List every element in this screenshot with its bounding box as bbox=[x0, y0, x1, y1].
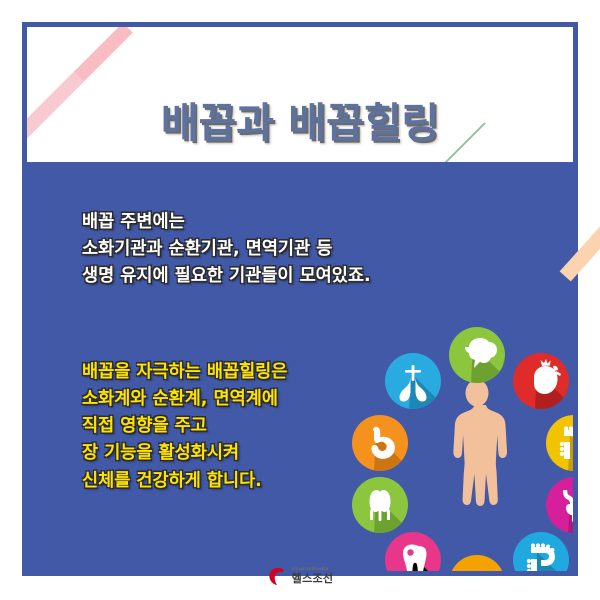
paragraph-one-line-3: 생명 유지에 필요한 기관들이 모여있죠. bbox=[82, 263, 371, 290]
organ-lungs-icon bbox=[385, 353, 441, 409]
paragraph-two-line-4: 장 기능을 활성화시켜 bbox=[82, 440, 287, 467]
chosun-c-logo-icon bbox=[267, 566, 287, 586]
organ-stomach-icon bbox=[352, 415, 408, 471]
paragraph-two-line-3: 직접 영향을 주고 bbox=[82, 413, 287, 440]
logo-title: 헬스조선 bbox=[292, 573, 334, 584]
paragraph-two-line-1: 배꼽을 자극하는 배꼽힐링은 bbox=[82, 359, 287, 386]
paragraph-two-line-2: 소화계와 순환계, 면역계에 bbox=[82, 386, 287, 413]
footer-logo: ChosunMedia 헬스조선 bbox=[0, 558, 600, 594]
organ-heart-icon bbox=[513, 353, 569, 409]
organ-kidneys-icon bbox=[352, 477, 408, 533]
paragraph-one: 배꼽 주변에는 소화기관과 순환기관, 면역기관 등 생명 유지에 필요한 기관… bbox=[82, 209, 371, 290]
organ-brain-icon bbox=[449, 327, 505, 383]
logo-text-group: ChosunMedia 헬스조선 bbox=[292, 568, 334, 585]
human-body-silhouette-icon bbox=[435, 379, 519, 561]
paragraph-one-line-1: 배꼽 주변에는 bbox=[82, 209, 371, 236]
content-frame: 배꼽과 배꼽힐링 배꼽 주변에는 소화기관과 순환기관, 면역기관 등 생명 유… bbox=[22, 22, 578, 576]
infographic-card: 배꼽과 배꼽힐링 배꼽 주변에는 소화기관과 순환기관, 면역기관 등 생명 유… bbox=[0, 0, 600, 600]
organ-large-intestine-icon bbox=[546, 415, 578, 471]
page-title: 배꼽과 배꼽힐링 bbox=[27, 89, 573, 149]
organ-bladder-icon bbox=[546, 477, 578, 533]
paragraph-one-line-2: 소화기관과 순환기관, 면역기관 등 bbox=[82, 236, 371, 263]
organ-ring-illustration bbox=[352, 327, 578, 576]
paragraph-two: 배꼽을 자극하는 배꼽힐링은 소화계와 순환계, 면역계에 직접 영향을 주고 … bbox=[82, 359, 287, 495]
paragraph-two-line-5: 신체를 건강하게 합니다. bbox=[82, 468, 287, 495]
